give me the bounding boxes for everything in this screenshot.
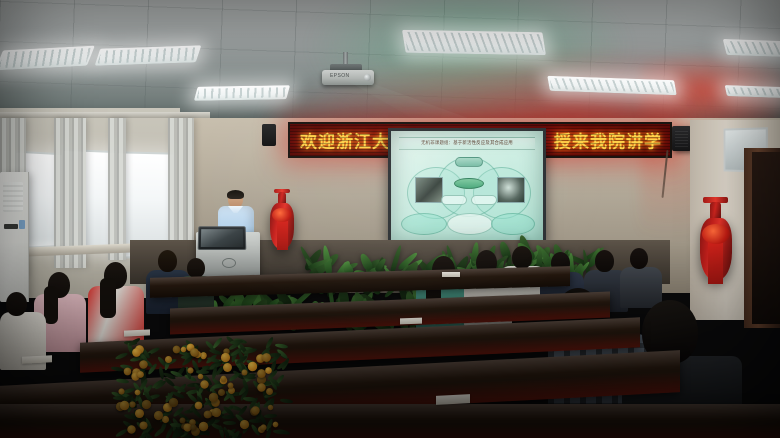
kumquat-fruit [268,404,273,409]
paper-document [442,272,460,277]
kumquat-fruit [218,389,225,396]
ac-vent-grille [3,182,23,212]
leaf [115,352,129,361]
kumquat-fruit [212,407,221,416]
kumquat-fruit [227,382,233,388]
laptop-screen [201,229,243,247]
kumquat-fruit [194,401,202,409]
kumquat-fruit [223,363,232,372]
curtain [168,118,194,254]
leaf [211,423,225,432]
presenter-hair [227,190,244,199]
kumquat-fruit [187,367,193,373]
kumquat-fruit [124,368,132,376]
diagram-node-top [455,157,483,167]
projection-screen: 无机非课题组：基于新活性反应及其合成应用 [391,131,543,241]
ac-brand-badge [19,220,25,229]
leaf [222,415,235,419]
kumquat-fruit [251,406,259,414]
leaf [243,396,256,401]
curtain [108,118,126,260]
person-head [512,246,532,269]
projector-lens-icon [364,74,371,81]
kumquat-fruit [191,348,199,356]
ceiling-light-panel [402,30,546,55]
diagram-node-center [454,178,484,189]
kumquat-fruit [242,369,248,375]
person-hair [100,278,116,318]
kumquat-fruit [266,388,273,395]
leaf [249,419,262,423]
kumquat-fruit [179,418,185,424]
lecture-hall-photo: EPSON 欢迎浙江大学 授来我院讲学 无机非课题组：基于新活性反应及其合成应用 [0,0,780,438]
kumquat-fruit [132,348,141,357]
kumquat-fruit [239,419,248,428]
kumquat-fruit [135,389,141,395]
paper-document [22,355,52,364]
person-head [158,250,177,272]
diagram-oval-bottom-center [447,213,493,235]
person-head [6,292,27,316]
ceiling-light-panel [725,85,780,98]
kumquat-fruit [272,422,278,428]
ceiling-light-panel [723,39,780,57]
vase-bow-left [272,208,292,222]
kumquat-fruit [173,346,181,354]
slide-thumbnail-left [415,177,443,203]
diagram-oval-bottom-right [491,213,535,235]
projector-brand-label: EPSON [330,73,350,79]
slide-diagram [399,153,535,235]
presenter-laptop[interactable] [198,226,247,250]
podium-emblem-icon [222,258,236,268]
air-conditioner-unit [0,172,29,302]
kumquat-plant-foreground [110,338,280,438]
wall-speaker-right [672,126,691,151]
ceiling-light-panel [194,85,290,101]
leaf [114,428,127,438]
vase-bow-right [702,224,730,244]
kumquat-fruit [139,361,148,370]
projection-screen-frame: 无机非课题组：基于新活性反应及其合成应用 [388,128,546,244]
leaf [113,396,126,400]
leaf [264,414,277,419]
kumquat-fruit [139,422,147,430]
kumquat-fruit [198,374,204,380]
kumquat-fruit [129,402,135,408]
person-hair [44,286,58,324]
person-head [187,258,205,278]
kumquat-fruit [220,353,229,362]
leaf [116,378,129,384]
ceiling-projector: EPSON [322,70,374,85]
paper-document [400,318,422,325]
kumquat-fruit [119,388,125,394]
slide-title-bar: 无机非课题组：基于新活性反应及其合成应用 [399,137,535,150]
vase-ribbon-left [277,218,288,250]
slide-thumbnail-right [497,177,525,203]
person-head [595,250,614,272]
ac-display-panel [4,224,18,229]
leaf [211,336,222,349]
leaf [223,421,236,425]
person-head [630,248,648,269]
kumquat-fruit [141,400,150,409]
kumquat-fruit [199,422,208,431]
doorway-opening[interactable] [752,152,780,324]
diagram-node-left-mid [441,195,467,205]
kumquat-fruit [200,380,208,388]
kumquat-fruit [204,410,212,418]
diagram-oval-bottom-left [401,213,447,235]
paper-document [436,394,470,405]
kumquat-fruit [180,346,186,352]
kumquat-fruit [201,353,207,359]
kumquat-fruit [127,425,135,433]
diagram-node-right-mid [471,195,497,205]
kumquat-fruit [248,361,257,370]
kumquat-fruit [169,398,178,407]
vase-ribbon-right [708,238,723,284]
ceiling [0,0,780,122]
paper-document [124,329,150,336]
wall-speaker-left [262,124,276,146]
